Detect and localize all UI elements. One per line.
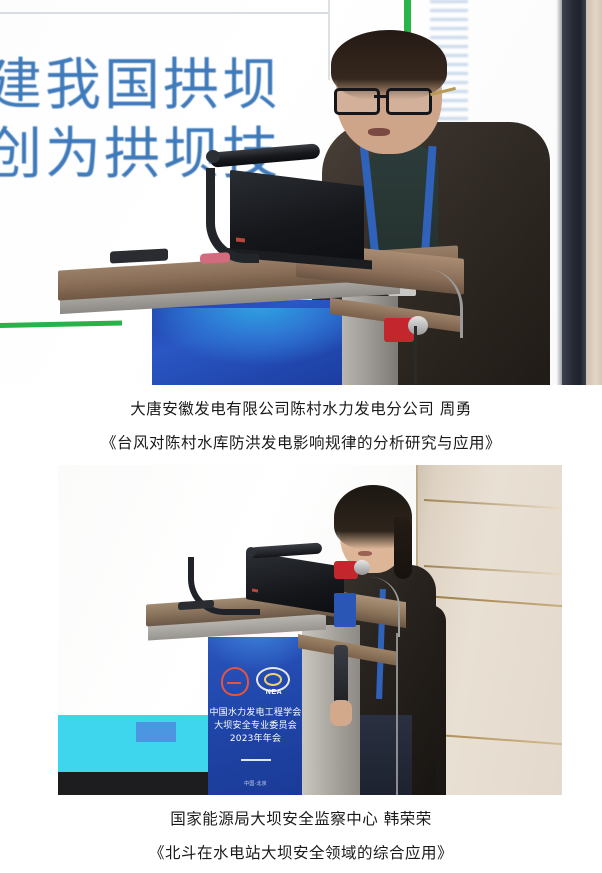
photo-speaker-han-rongrong: NEA 中国水力发电工程学会 大坝安全专业委员会 2023年年会 中国·北京 [58,465,562,795]
caption-2-title: 《北斗在水电站大坝安全领域的综合应用》 [0,836,602,870]
eyeglasses-icon [334,88,438,110]
hanging-cable [414,326,417,385]
slide-text: 建我国拱坝 创为拱坝技 [0,52,366,190]
slide-text-line-1: 建我国拱坝 [0,52,366,121]
silver-cable-connector-2 [354,560,370,575]
podium-blue-panel [152,300,342,385]
speaker-mouth [368,128,390,136]
caption-1-presenter: 大唐安徽发电有限公司陈村水力发电分公司 周勇 [0,392,602,426]
podium-banner-line-1: 中国水力发电工程学会 [208,707,303,720]
desk-pink-item [200,252,230,264]
photo-speaker-zhou-yong: 建我国拱坝 创为拱坝技 [0,0,602,385]
stage-dark-base [58,772,218,795]
podium-panel-wave-graphic [152,308,342,370]
hanging-cable-2 [396,633,398,795]
podium-banner-divider [241,759,271,761]
podium-banner-text: 中国水力发电工程学会 大坝安全专业委员会 2023年年会 [208,707,303,746]
podium-banner: NEA 中国水力发电工程学会 大坝安全专业委员会 2023年年会 中国·北京 [208,637,303,795]
nea-logo-label: NEA [258,689,290,696]
eyeglasses-left-lens [334,88,380,115]
article-page: 建我国拱坝 创为拱坝技 [0,0,602,873]
screen-blue-rectangle [136,722,176,742]
caption-2-presenter: 国家能源局大坝安全监察中心 韩荣荣 [0,802,602,836]
caption-1-title: 《台风对陈村水库防洪发电影响规律的分析研究与应用》 [0,426,602,460]
microphone2-tip [246,547,256,557]
speaker2-badge [334,593,356,627]
silver-cable-connector [408,316,428,335]
speaker2-hand [330,700,352,726]
podium-banner-line-3: 2023年年会 [208,733,303,746]
speaker2-mouth [358,551,372,556]
caption-photo-1: 大唐安徽发电有限公司陈村水力发电分公司 周勇 《台风对陈村水库防洪发电影响规律的… [0,392,602,460]
beige-wall-strip [586,0,602,385]
eyeglasses-right-lens [386,88,432,115]
podium-banner-line-2: 大坝安全专业委员会 [208,720,303,733]
dark-door-frame [562,0,586,385]
chinese-hydropower-society-emblem-icon [221,667,249,696]
caption-photo-2: 国家能源局大坝安全监察中心 韩荣荣 《北斗在水电站大坝安全领域的综合应用》 [0,802,602,870]
eyeglasses-bridge [374,95,386,98]
screen-top-rule [0,12,330,14]
podium-banner-wave-graphic [208,637,303,671]
speaker2-hair-side [394,517,412,579]
podium-banner-footer: 中国·北京 [208,780,303,787]
speaker2-trousers [358,715,412,795]
